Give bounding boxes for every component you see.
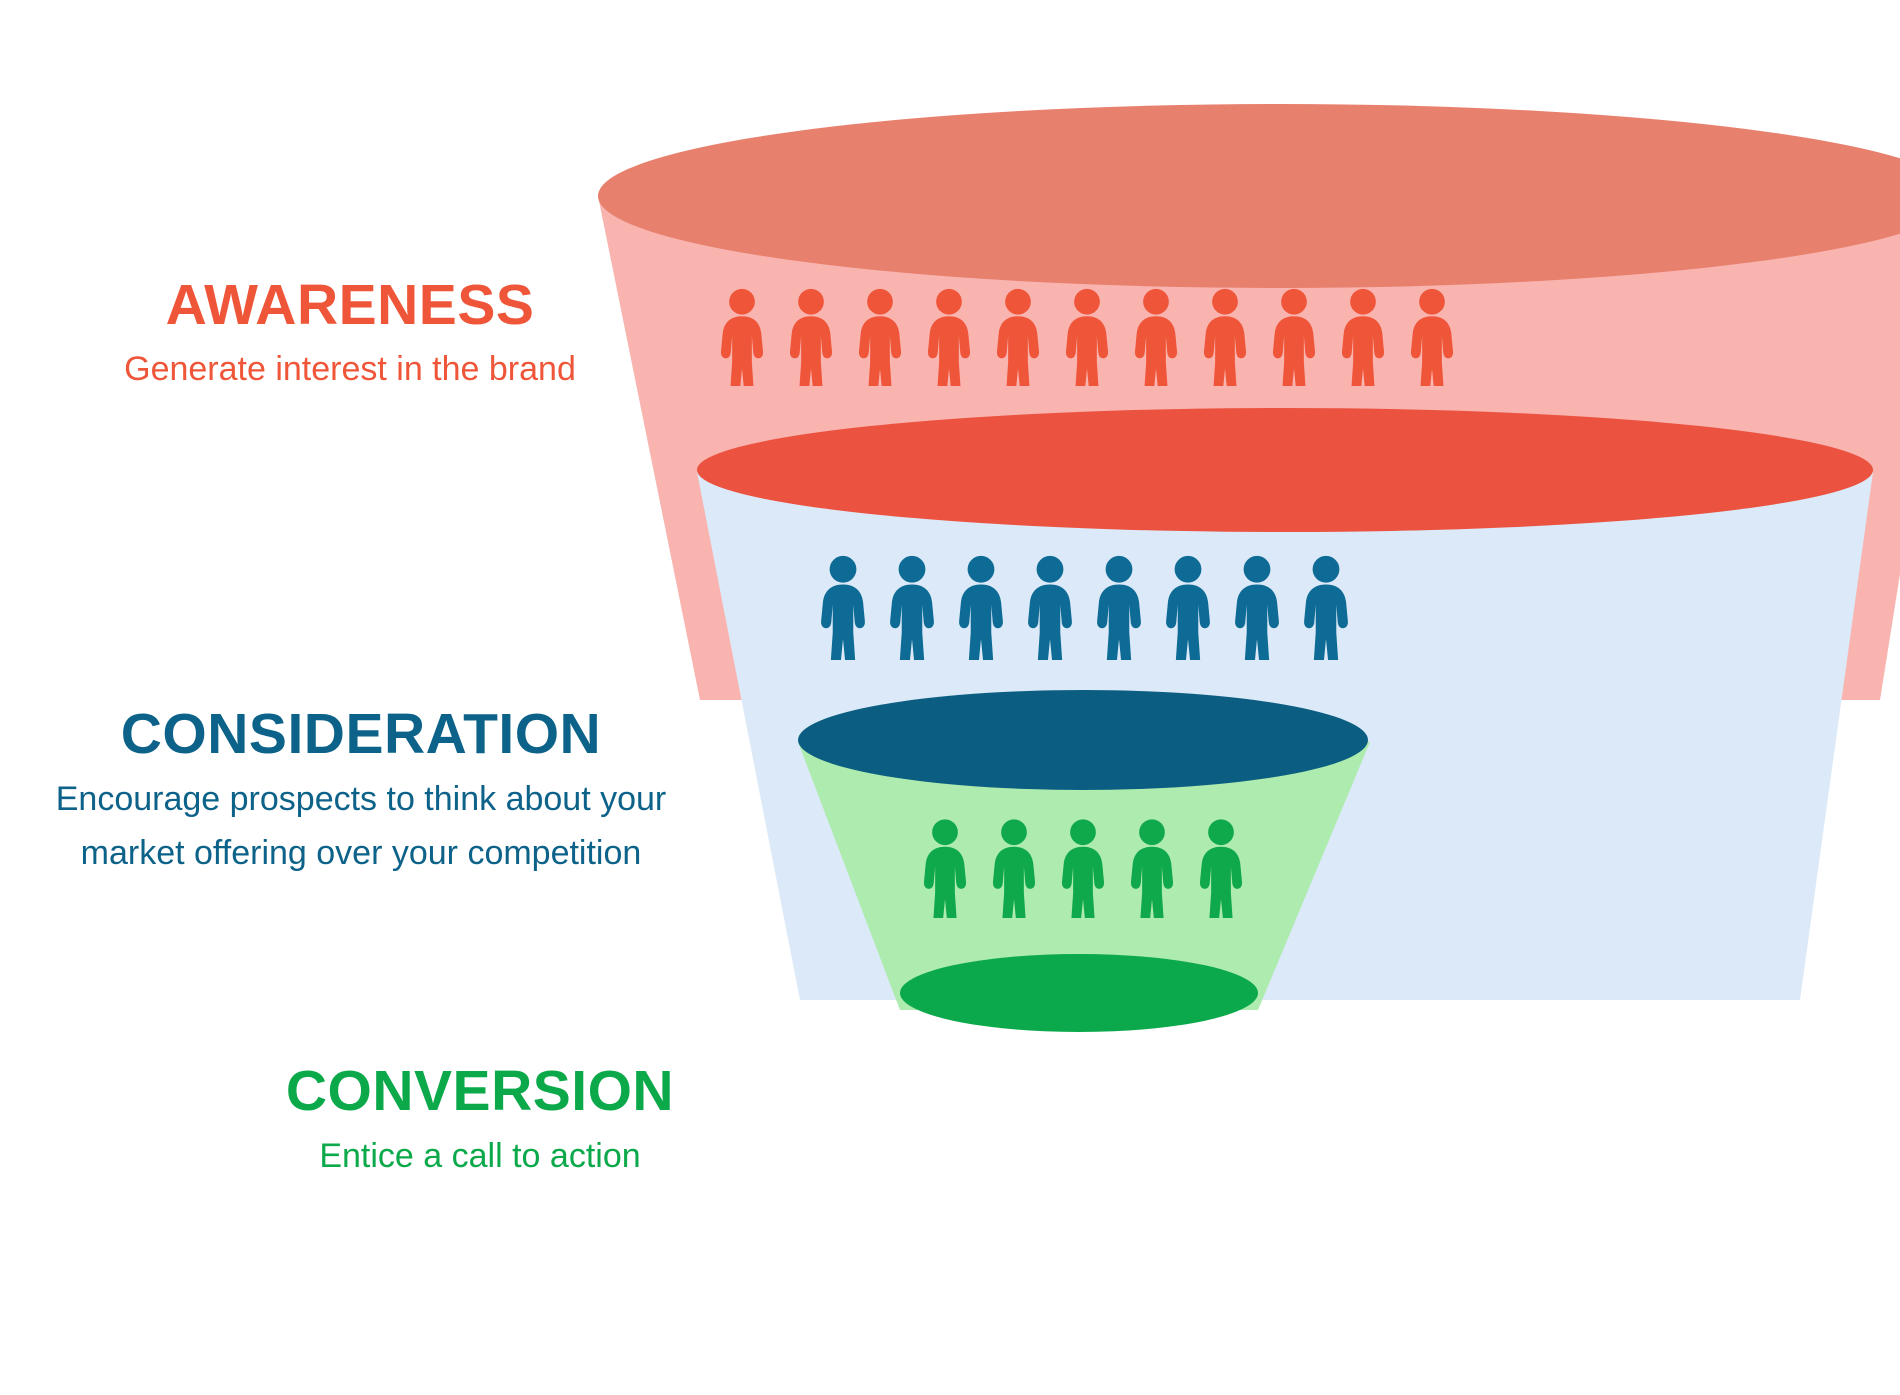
funnel-infographic: AWARENESS Generate interest in the brand…: [0, 0, 1900, 1395]
funnel-divider-awareness: [697, 408, 1873, 532]
consideration-subtitle-line1: Encourage prospects to think about your: [0, 779, 722, 819]
stage-label-conversion: CONVERSION Entice a call to action: [0, 1062, 960, 1176]
funnel-divider-consideration: [798, 690, 1368, 790]
funnel-bottom-rim: [900, 954, 1258, 1032]
funnel-top-rim: [598, 104, 1900, 288]
awareness-subtitle: Generate interest in the brand: [0, 349, 700, 389]
awareness-title: AWARENESS: [0, 276, 700, 336]
conversion-subtitle: Entice a call to action: [0, 1136, 960, 1176]
consideration-subtitle-line2: market offering over your competition: [0, 833, 722, 873]
conversion-title: CONVERSION: [0, 1062, 960, 1122]
consideration-title: CONSIDERATION: [0, 705, 722, 765]
stage-label-awareness: AWARENESS Generate interest in the brand: [0, 276, 700, 389]
stage-label-consideration: CONSIDERATION Encourage prospects to thi…: [0, 705, 722, 873]
funnel-labels: AWARENESS Generate interest in the brand…: [0, 0, 760, 1395]
